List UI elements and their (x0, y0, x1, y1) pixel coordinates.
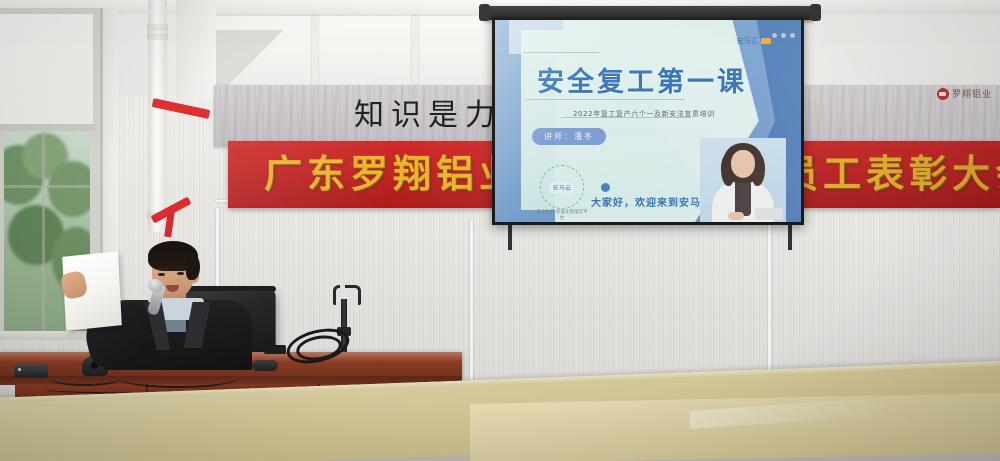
company-seal-icon (937, 88, 949, 100)
window-mullion (312, 16, 318, 92)
slide-presenter-badge: 讲师：潘冬 (532, 128, 606, 145)
slide-divider (525, 99, 685, 100)
slide-title: 安全复工第一课 (537, 60, 747, 99)
foreground-table-right (470, 393, 1000, 461)
pipe-band (147, 33, 168, 40)
presenter-hand (728, 212, 744, 220)
window-divider (42, 131, 45, 331)
speaker-eye-right (177, 272, 184, 275)
presenter-inner-top (735, 180, 751, 216)
window-transom (0, 124, 96, 131)
window-divider (4, 185, 90, 188)
emblem-caption: 安全生产 标准化管理云平台 (535, 210, 589, 222)
company-logo: 罗翔铝业 (937, 87, 992, 100)
slide-brand-logo: 安马汇 (737, 36, 772, 46)
slide-bullet-dot (601, 183, 610, 192)
window-glass-upper (0, 14, 93, 124)
meeting-room-photo: 知识是力量，行动的基石。 罗翔铝业 广东罗翔铝业有限公司优秀员工表彰大会 安马汇 (0, 0, 1000, 461)
minimize-icon (772, 33, 777, 38)
screen-support (788, 224, 792, 250)
speaker-brow-right (176, 266, 188, 269)
window-sill (0, 331, 98, 340)
microphone-clip-gap (340, 285, 345, 295)
desk-cable (50, 372, 120, 386)
slide-brand-text: 安马汇 (737, 36, 760, 46)
desk-device-box[interactable] (14, 364, 48, 378)
slide-subtitle: 2022年复工复产六个一及新安法宣贯培训 (573, 109, 715, 119)
wall-seam (470, 220, 473, 398)
device-led-icon (18, 368, 21, 371)
pipe-band (147, 24, 168, 31)
roller-end-cap (479, 4, 490, 21)
company-logo-text: 罗翔铝业 (952, 87, 992, 100)
slide-window-controls (772, 33, 795, 38)
projected-slide: 安马汇 安全复工第一课 2022年复工复产六个一及新安法宣贯培训 讲师：潘冬 安… (495, 20, 801, 222)
speaker-eye-left (158, 273, 165, 276)
wall-column (176, 0, 216, 100)
slide-presenter-video (700, 138, 786, 222)
power-adapter (264, 345, 286, 354)
emblem-core-text: 安马云 (550, 182, 575, 193)
slide-emblem-icon: 安马云 (540, 165, 584, 209)
presenter-face (731, 150, 755, 178)
computer-mouse[interactable] (252, 360, 278, 371)
tree-foliage (48, 161, 90, 217)
microphone-clip-icon (333, 285, 361, 305)
maximize-icon (781, 33, 786, 38)
screen-support (508, 224, 512, 250)
close-icon (790, 33, 795, 38)
clerestory-shadow (216, 30, 308, 90)
speaker-brow-left (157, 267, 170, 270)
slide-divider (523, 52, 599, 53)
roller-end-cap (810, 4, 821, 21)
slide-brand-mark (761, 38, 771, 44)
window-mullion (412, 16, 418, 92)
presenter-laptop (755, 208, 783, 220)
speaker-hair-side (186, 254, 200, 280)
